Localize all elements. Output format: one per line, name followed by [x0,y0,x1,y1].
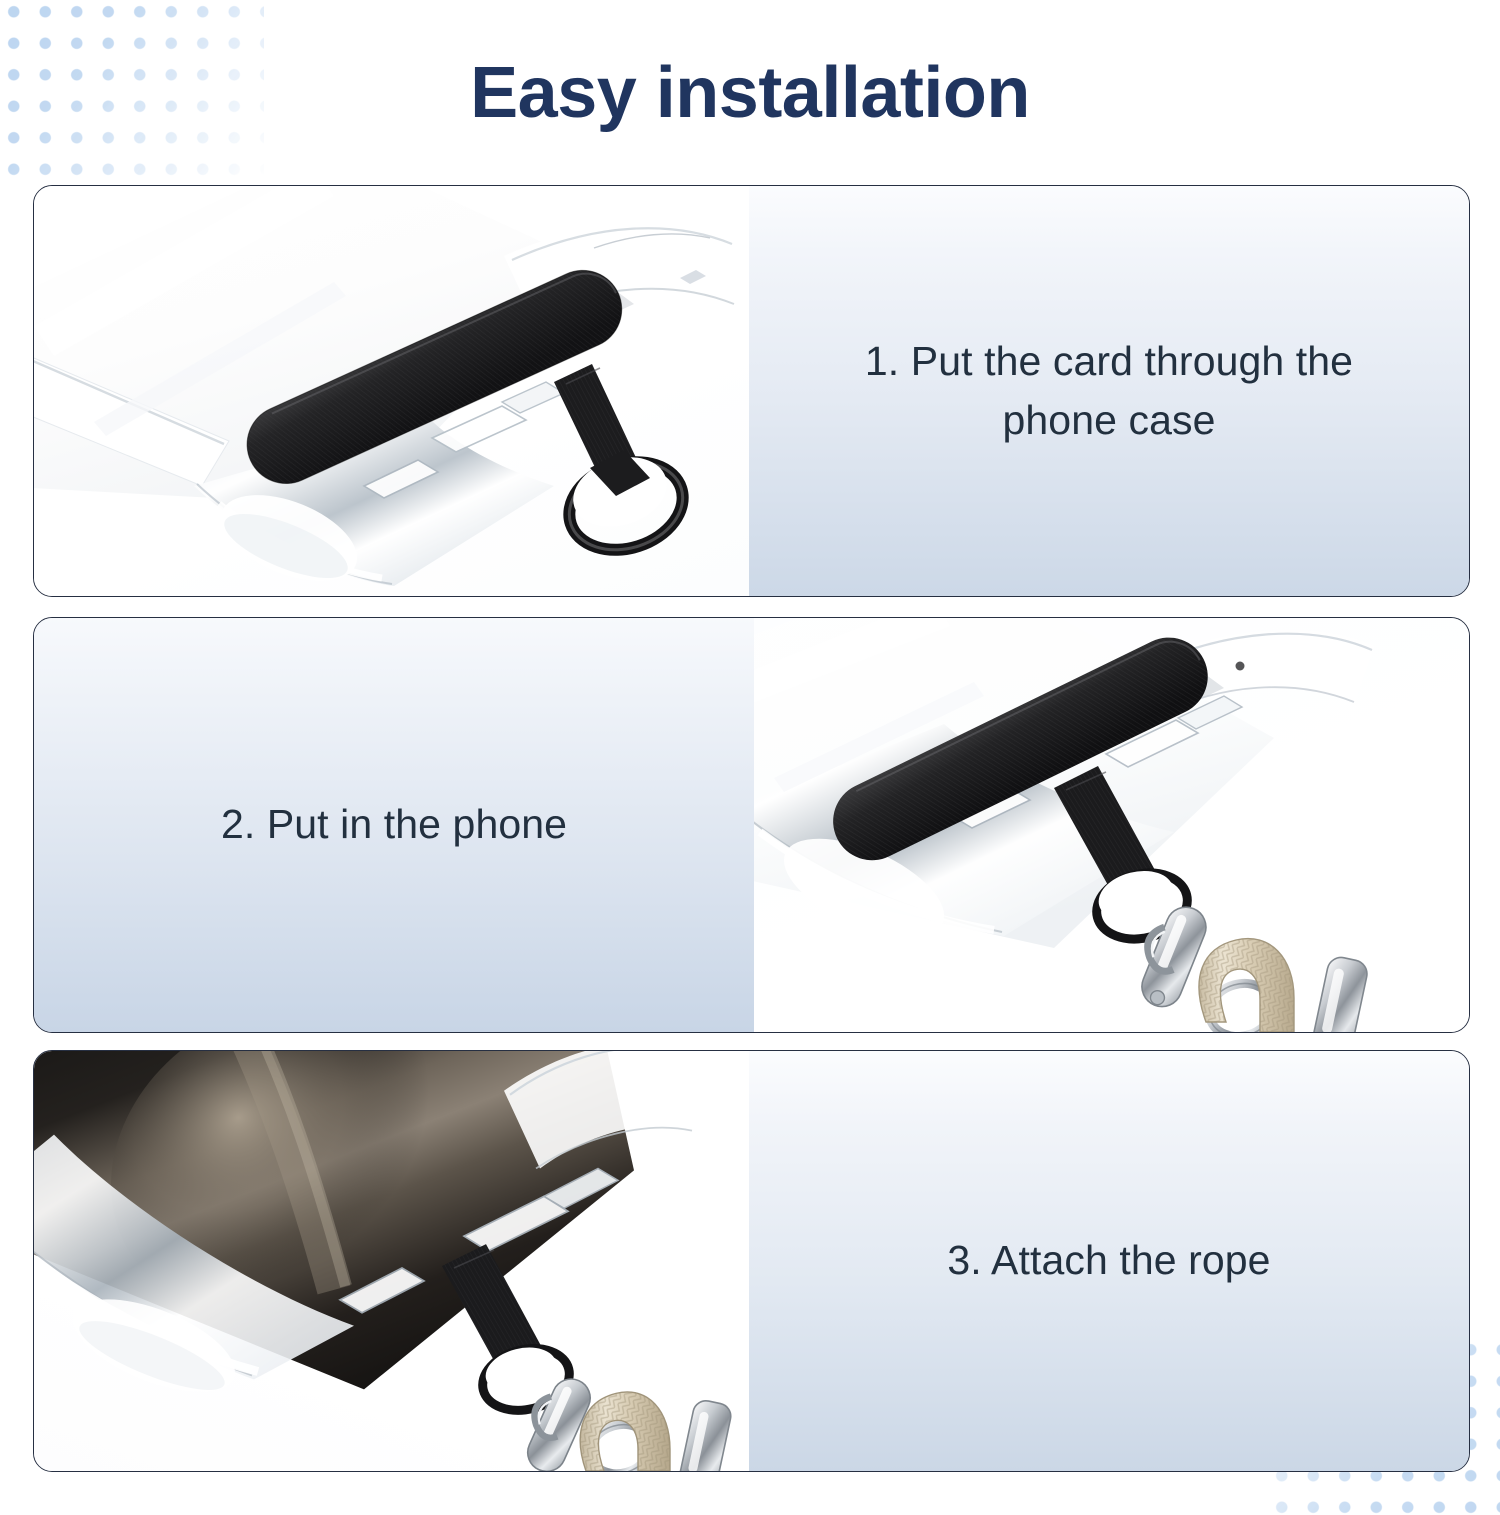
step-1-text-panel: 1. Put the card through the phone case [749,186,1469,596]
photo-black-phone-with-rope [34,1051,749,1471]
black-phone-in-case-illustration [34,1051,749,1471]
photo-clear-case-with-card [34,186,749,596]
case-and-lanyard-illustration [754,618,1469,1032]
photo-case-with-rope-clipped [754,618,1469,1032]
step-3-photo [34,1051,749,1471]
step-card-1: 1. Put the card through the phone case [33,185,1470,597]
step-card-3: 3. Attach the rope [33,1050,1470,1472]
step-3-label: 3. Attach the rope [893,1231,1324,1290]
step-2-photo [754,618,1469,1032]
clear-phone-case-illustration [34,186,749,596]
page-title: Easy installation [0,56,1500,132]
step-2-label: 2. Put in the phone [167,795,621,854]
step-1-label: 1. Put the card through the phone case [749,332,1469,451]
step-card-2: 2. Put in the phone [33,617,1470,1033]
step-1-photo [34,186,749,596]
step-3-text-panel: 3. Attach the rope [749,1051,1469,1471]
step-2-text-panel: 2. Put in the phone [34,618,754,1032]
